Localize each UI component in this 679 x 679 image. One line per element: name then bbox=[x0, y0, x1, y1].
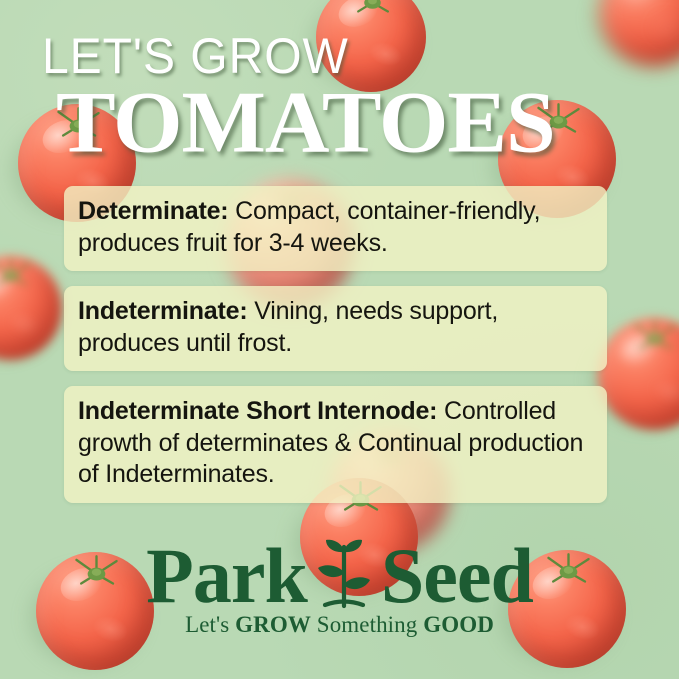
tagline-something: Something bbox=[311, 612, 423, 637]
brand-logo: Park Seed Let's GROW Something bbox=[0, 538, 679, 638]
definition-card-indeterminate: Indeterminate: Vining, needs support, pr… bbox=[64, 286, 607, 371]
tagline-good: GOOD bbox=[423, 612, 494, 637]
card-term: Indeterminate Short Internode: bbox=[78, 397, 437, 425]
brand-logo-row: Park Seed bbox=[0, 538, 679, 614]
tagline-grow: GROW bbox=[235, 612, 311, 637]
definition-card-determinate: Determinate: Compact, container-friendly… bbox=[64, 186, 607, 271]
card-term: Indeterminate: bbox=[78, 297, 247, 325]
tomato-calyx-icon bbox=[627, 320, 679, 358]
tomato-info-poster: LET'S GROW TOMATOES Determinate: Compact… bbox=[0, 0, 679, 679]
tomato-calyx-icon bbox=[0, 258, 37, 293]
tomato-left-mid bbox=[0, 256, 62, 360]
sprout-icon bbox=[313, 538, 375, 614]
tomato-right-mid bbox=[598, 318, 679, 430]
tomato-top-right-edge bbox=[600, 0, 679, 66]
page-title: TOMATOES bbox=[56, 78, 555, 166]
brand-tagline: Let's GROW Something GOOD bbox=[0, 612, 679, 638]
brand-name-seed: Seed bbox=[381, 537, 533, 615]
definition-card-indeterminate-short-internode: Indeterminate Short Internode: Controlle… bbox=[64, 386, 607, 503]
tagline-lets: Let's bbox=[185, 612, 235, 637]
card-term: Determinate: bbox=[78, 197, 228, 225]
tomato-calyx-icon bbox=[345, 0, 400, 22]
brand-name-park: Park bbox=[146, 537, 307, 615]
definition-card-list: Determinate: Compact, container-friendly… bbox=[64, 186, 607, 503]
